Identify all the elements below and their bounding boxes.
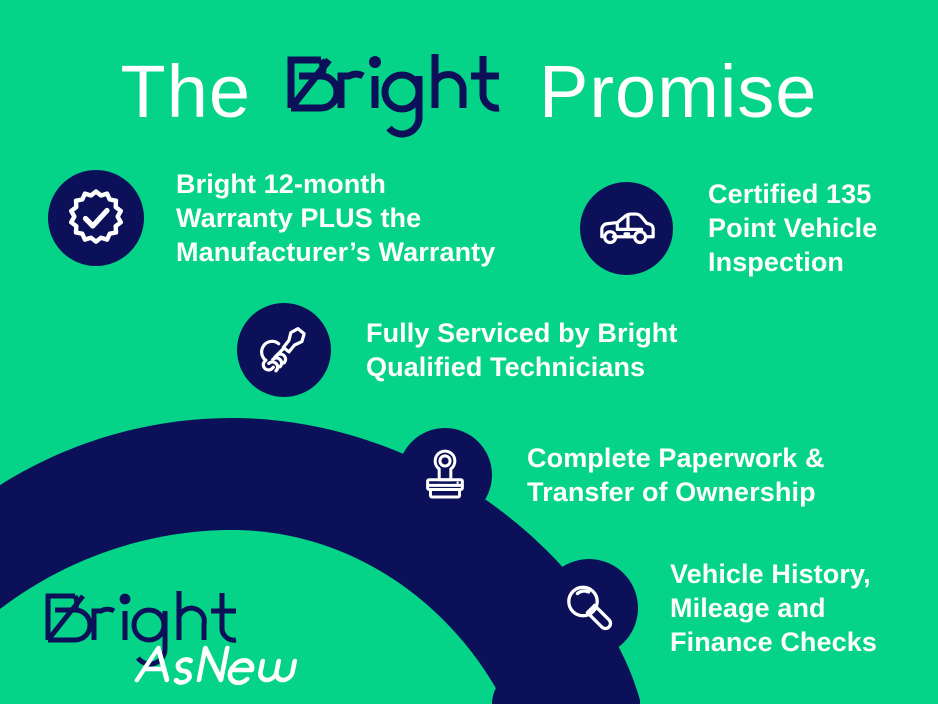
page-title: The Bright (0, 44, 938, 140)
bright-wordmark-i-dot (369, 56, 381, 68)
car-side-icon (596, 197, 658, 259)
brand-lockup: Bright AsNew (38, 578, 298, 688)
bright-wordmark-title: Bright (277, 46, 513, 138)
feature-label-serviced: Fully Serviced by Bright Qualified Techn… (366, 316, 677, 384)
promise-graphic: The Bright (0, 0, 938, 704)
feature-icon-wrapper-serviced (237, 303, 331, 397)
feature-icon-wrapper-history (540, 559, 638, 657)
feature-serviced: Fully Serviced by Bright Qualified Techn… (237, 303, 677, 397)
brand-wordmark-i-dot (120, 594, 131, 605)
feature-label-paperwork: Complete Paperwork & Transfer of Ownersh… (527, 441, 825, 509)
feature-label-inspection: Certified 135 Point Vehicle Inspection (708, 177, 877, 279)
feature-icon-wrapper-warranty (48, 170, 144, 266)
feature-icon-wrapper-paperwork (398, 428, 492, 522)
feature-paperwork: Complete Paperwork & Transfer of Ownersh… (398, 428, 825, 522)
brand-tagline-asnew: AsNew (136, 648, 297, 683)
feature-inspection: Certified 135 Point Vehicle Inspection (580, 177, 877, 279)
feature-label-warranty: Bright 12-month Warranty PLUS the Manufa… (176, 167, 495, 269)
title-lead: The (121, 55, 252, 129)
feature-label-history: Vehicle History, Mileage and Finance Che… (670, 557, 877, 659)
feature-history: Vehicle History, Mileage and Finance Che… (540, 557, 877, 659)
hand-wrench-icon (253, 319, 315, 381)
navy-wedge-shape (492, 658, 612, 704)
feature-icon-wrapper-inspection (580, 182, 673, 275)
certified-badge-check-icon (64, 186, 128, 250)
rubber-stamp-icon (415, 445, 475, 505)
title-trail: Promise (539, 55, 817, 129)
feature-warranty: Bright 12-month Warranty PLUS the Manufa… (48, 167, 495, 269)
magnifying-glass-icon (557, 576, 621, 640)
